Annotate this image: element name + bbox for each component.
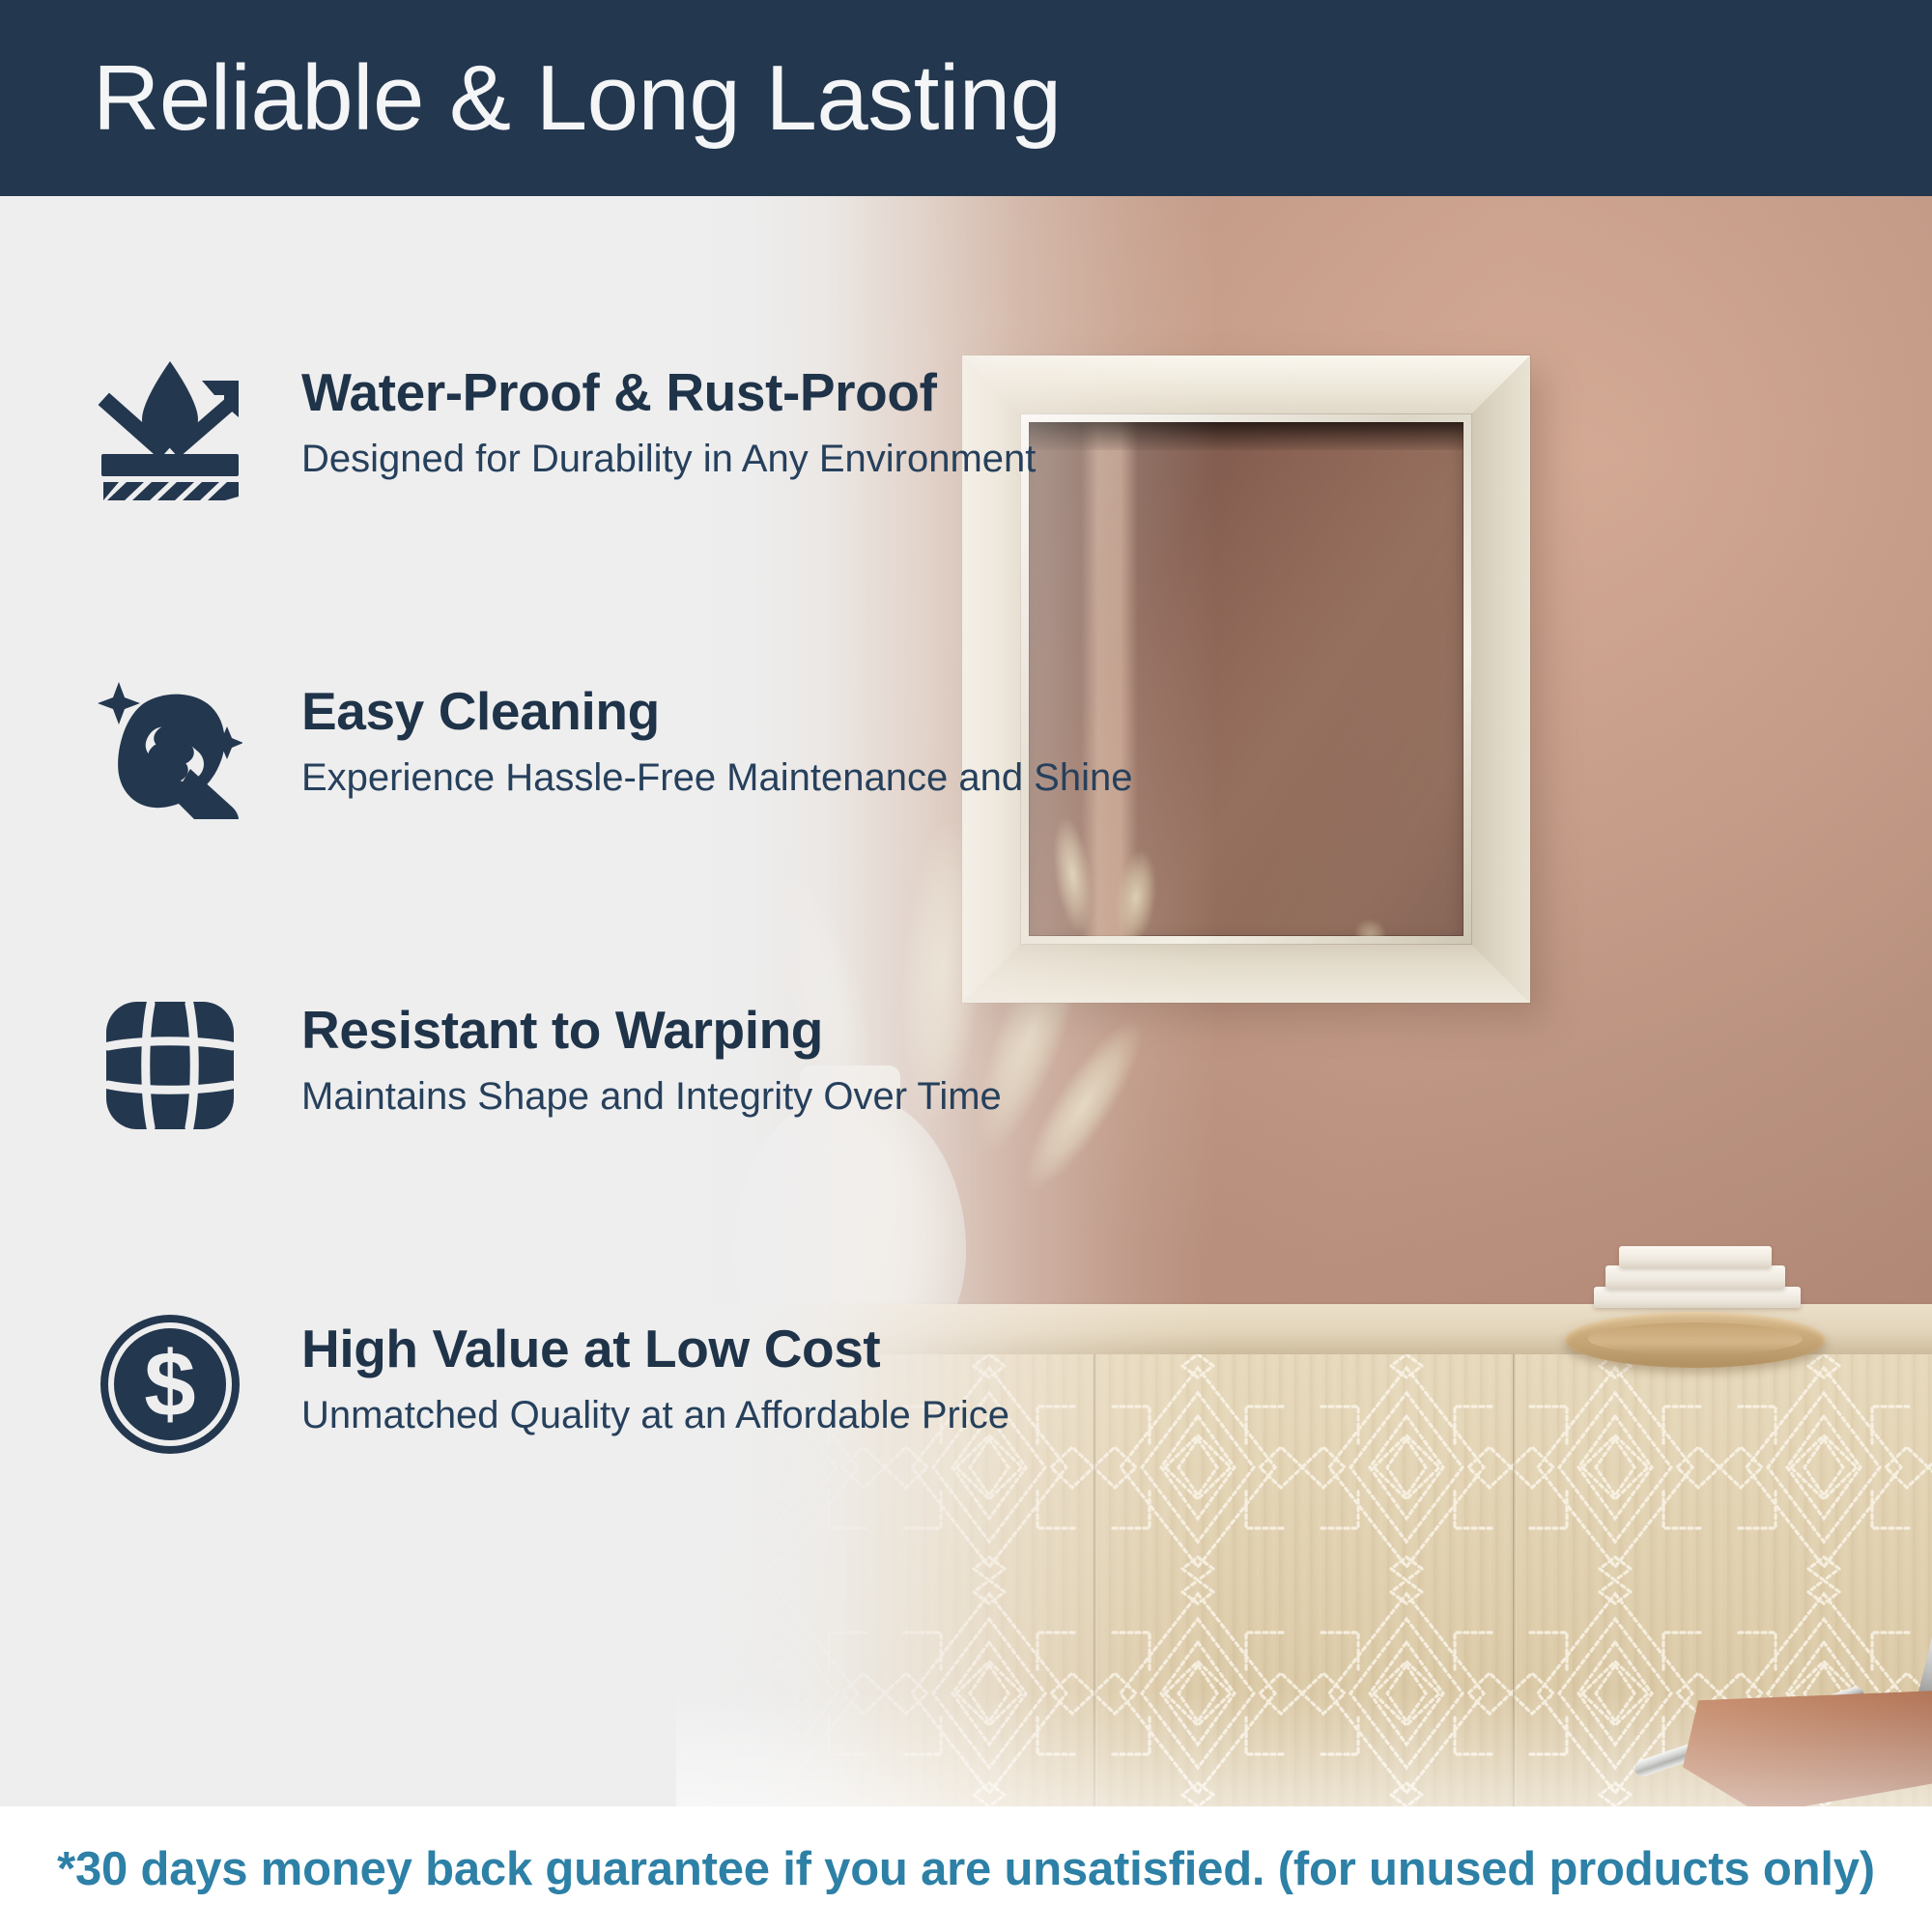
feature-title: High Value at Low Cost bbox=[301, 1321, 1009, 1378]
feature-item-warp-resistant: Resistant to Warping Maintains Shape and… bbox=[93, 988, 1184, 1143]
page-title: Reliable & Long Lasting bbox=[0, 52, 1062, 145]
feature-item-water-proof: Water-Proof & Rust-Proof Designed for Du… bbox=[93, 351, 1184, 505]
leather-sling-chair bbox=[1623, 1609, 1932, 1806]
feature-text: Water-Proof & Rust-Proof Designed for Du… bbox=[301, 351, 1036, 485]
feature-title: Resistant to Warping bbox=[301, 1002, 1002, 1059]
feature-title: Water-Proof & Rust-Proof bbox=[301, 364, 1036, 421]
feature-title: Easy Cleaning bbox=[301, 683, 1133, 740]
dollar-coin-icon: $ bbox=[93, 1307, 247, 1462]
feature-subtitle: Designed for Durability in Any Environme… bbox=[301, 435, 1036, 484]
feature-item-high-value: $ High Value at Low Cost Unmatched Quali… bbox=[93, 1307, 1184, 1462]
stacked-book bbox=[1605, 1265, 1785, 1289]
water-droplet-repellent-icon bbox=[93, 351, 247, 505]
feature-text: Easy Cleaning Experience Hassle-Free Mai… bbox=[301, 669, 1133, 804]
infographic-page: Reliable & Long Lasting bbox=[0, 0, 1932, 1932]
footer-bar: *30 days money back guarantee if you are… bbox=[0, 1806, 1932, 1932]
feature-text: High Value at Low Cost Unmatched Quality… bbox=[301, 1307, 1009, 1441]
feature-item-easy-cleaning: Easy Cleaning Experience Hassle-Free Mai… bbox=[93, 669, 1184, 824]
mirror-frame-right bbox=[1466, 355, 1530, 1003]
mirror-reflection bbox=[1347, 911, 1394, 936]
feature-subtitle: Unmatched Quality at an Affordable Price bbox=[301, 1391, 1009, 1440]
main-content: Water-Proof & Rust-Proof Designed for Du… bbox=[0, 196, 1932, 1806]
stacked-book bbox=[1594, 1287, 1801, 1308]
feature-subtitle: Maintains Shape and Integrity Over Time bbox=[301, 1072, 1002, 1122]
feature-list: Water-Proof & Rust-Proof Designed for Du… bbox=[0, 196, 1198, 1806]
header-bar: Reliable & Long Lasting bbox=[0, 0, 1932, 196]
tray-inner-well bbox=[1588, 1322, 1803, 1355]
hand-cleaning-sparkle-icon bbox=[93, 669, 247, 824]
grid-panel-icon bbox=[93, 988, 247, 1143]
chair-leather-sling bbox=[1683, 1690, 1932, 1806]
wooden-tray bbox=[1565, 1312, 1826, 1368]
feature-subtitle: Experience Hassle-Free Maintenance and S… bbox=[301, 753, 1133, 803]
guarantee-note: *30 days money back guarantee if you are… bbox=[57, 1842, 1875, 1896]
stacked-book bbox=[1619, 1246, 1772, 1267]
feature-text: Resistant to Warping Maintains Shape and… bbox=[301, 988, 1002, 1122]
svg-text:$: $ bbox=[144, 1333, 195, 1436]
